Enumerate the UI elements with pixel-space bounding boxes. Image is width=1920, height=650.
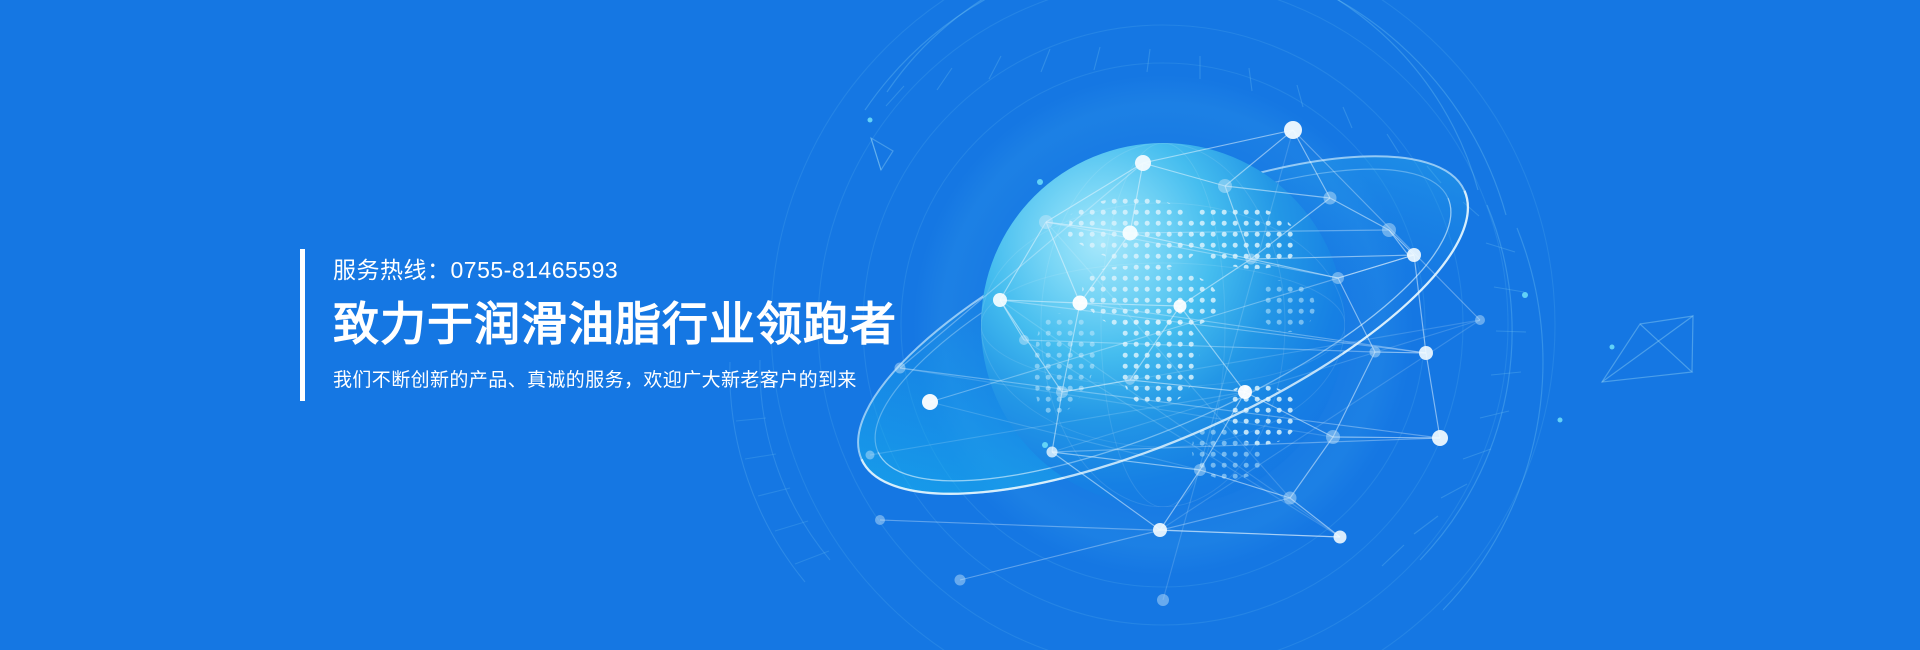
wireframe-pyramid-icon [1602, 316, 1693, 382]
network-nodes-icon [866, 118, 1615, 607]
orbital-ring-back-icon [816, 88, 1510, 561]
banner-headline: 致力于润滑油脂行业领跑者 [333, 295, 897, 355]
ticked-arc-icon [865, 0, 1543, 610]
globe-meridians-icon [981, 143, 1345, 507]
banner-graphic [0, 0, 1920, 650]
wireframe-triangle-icon [871, 138, 893, 170]
hero-banner: 服务热线：0755-81465593 致力于润滑油脂行业领跑者 我们不断创新的产… [0, 0, 1920, 650]
dotted-continents-icon [1035, 197, 1315, 480]
banner-text-block: 服务热线：0755-81465593 致力于润滑油脂行业领跑者 我们不断创新的产… [300, 245, 897, 405]
globe-sphere-icon [981, 143, 1345, 507]
arc-rungs-icon [886, 47, 1526, 566]
service-hotline: 服务热线：0755-81465593 [333, 256, 897, 285]
orbital-ring-front-icon [862, 191, 1510, 562]
arc-rungs-left-icon [731, 382, 829, 564]
globe-glow-icon [913, 75, 1413, 575]
banner-subheadline: 我们不断创新的产品、真诚的服务，欢迎广大新老客户的到来 [333, 369, 897, 394]
banner-text-lines: 服务热线：0755-81465593 致力于润滑油脂行业领跑者 我们不断创新的产… [305, 245, 897, 405]
network-mesh-icon [870, 130, 1480, 600]
